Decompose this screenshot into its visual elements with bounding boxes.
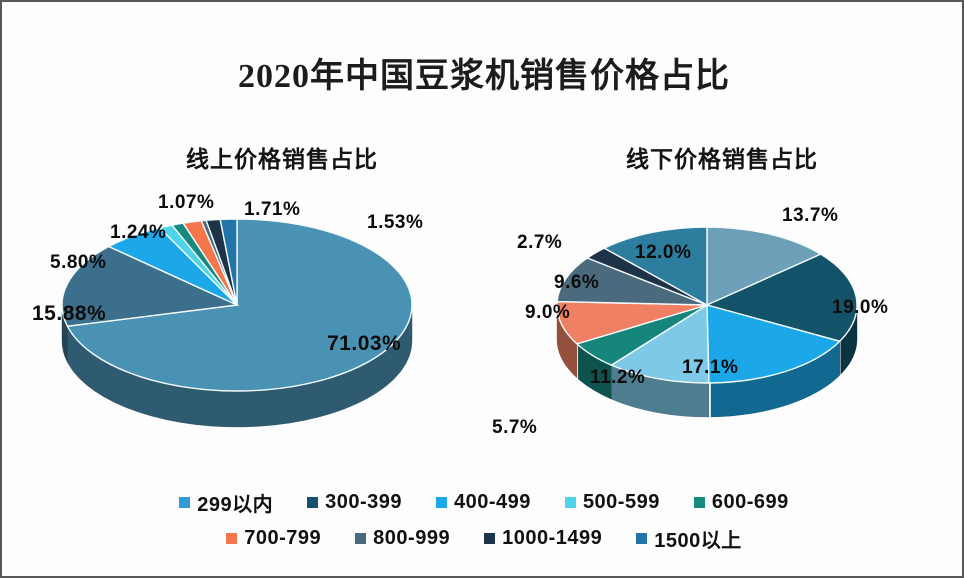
legend-swatch-icon (436, 497, 447, 508)
legend-item[interactable]: 700-799 (226, 527, 321, 550)
legend-item[interactable]: 600-699 (694, 491, 789, 514)
pie-value-label: 15.88% (32, 302, 106, 326)
pie-value-label: 11.2% (590, 367, 645, 389)
pie-value-label: 5.80% (50, 252, 106, 274)
pie-value-label: 19.0% (832, 297, 888, 319)
legend-item[interactable]: 800-999 (355, 527, 450, 550)
page-title: 2020年中国豆浆机销售价格占比 (2, 48, 964, 97)
legend-item[interactable]: 300-399 (307, 491, 402, 514)
legend-label: 1000-1499 (502, 527, 602, 550)
legend-label: 600-699 (712, 491, 789, 514)
pie-value-label: 1.71% (244, 199, 300, 221)
legend-row: 299以内300-399400-499500-599600-699 (2, 484, 964, 520)
legend-label: 1500以上 (654, 524, 742, 553)
chart-legend: 299以内300-399400-499500-599600-699700-799… (2, 484, 964, 556)
legend-item[interactable]: 1000-1499 (484, 527, 602, 550)
pie-chart-offline: 13.7%2.7%12.0%9.6%19.0%9.0%17.1%11.2%5.7… (482, 177, 952, 477)
pie-value-label: 1.53% (367, 212, 423, 234)
pie-value-label: 1.07% (158, 192, 214, 214)
pie-chart-online-svg (32, 177, 502, 477)
legend-label: 400-499 (454, 491, 531, 514)
chart-subtitle-online: 线上价格销售占比 (92, 140, 472, 174)
pie-value-label: 71.03% (327, 332, 401, 356)
legend-swatch-icon (636, 533, 647, 544)
legend-label: 700-799 (244, 527, 321, 550)
pie-value-label: 9.0% (525, 302, 570, 324)
pie-top-faces (62, 219, 412, 391)
legend-swatch-icon (226, 533, 237, 544)
legend-label: 299以内 (197, 488, 273, 517)
pie-value-label: 13.7% (782, 205, 838, 227)
pie-chart-offline-svg (482, 177, 952, 477)
legend-label: 800-999 (373, 527, 450, 550)
legend-item[interactable]: 1500以上 (636, 524, 742, 553)
legend-swatch-icon (694, 497, 705, 508)
pie-chart-online: 1.07%1.71%1.53%1.24%5.80%15.88%71.03% (32, 177, 502, 477)
pie-value-label: 9.6% (554, 272, 599, 294)
legend-row: 700-799800-9991000-14991500以上 (2, 520, 964, 556)
pie-value-label: 17.1% (682, 357, 738, 379)
pie-value-label: 5.7% (492, 417, 537, 439)
chart-subtitle-offline: 线下价格销售占比 (532, 140, 912, 174)
legend-swatch-icon (355, 533, 366, 544)
legend-item[interactable]: 299以内 (179, 488, 273, 517)
legend-swatch-icon (307, 497, 318, 508)
legend-label: 500-599 (583, 491, 660, 514)
legend-swatch-icon (179, 497, 190, 508)
pie-value-label: 12.0% (635, 242, 691, 264)
legend-swatch-icon (484, 533, 495, 544)
legend-label: 300-399 (325, 491, 402, 514)
legend-swatch-icon (565, 497, 576, 508)
pie-value-label: 2.7% (517, 232, 562, 254)
chart-canvas: 2020年中国豆浆机销售价格占比 线上价格销售占比 线下价格销售占比 1.07%… (0, 0, 964, 578)
legend-item[interactable]: 500-599 (565, 491, 660, 514)
pie-value-label: 1.24% (110, 222, 166, 244)
legend-item[interactable]: 400-499 (436, 491, 531, 514)
